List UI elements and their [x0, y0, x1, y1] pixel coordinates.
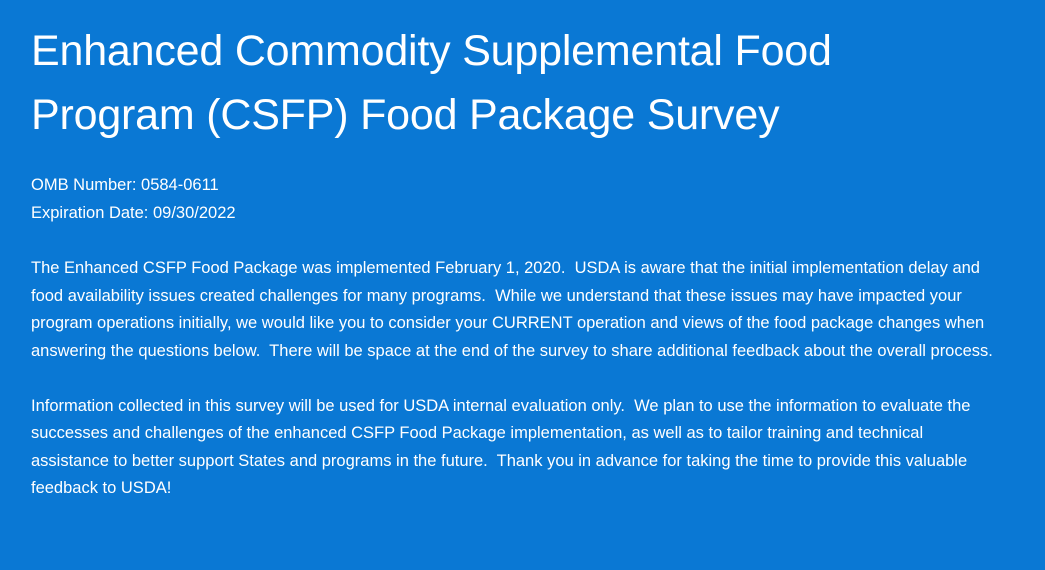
- intro-body-block: The Enhanced CSFP Food Package was imple…: [31, 255, 993, 503]
- expiration-date-text: Expiration Date: 09/30/2022: [31, 200, 631, 228]
- intro-paragraph-implementation: The Enhanced CSFP Food Package was imple…: [31, 255, 993, 365]
- omb-meta-block: OMB Number: 0584-0611 Expiration Date: 0…: [31, 172, 631, 227]
- intro-paragraph-data-use: Information collected in this survey wil…: [31, 393, 993, 503]
- page-title: Enhanced Commodity Supplemental Food Pro…: [31, 19, 971, 147]
- omb-number-text: OMB Number: 0584-0611: [31, 172, 631, 200]
- survey-intro-page: Enhanced Commodity Supplemental Food Pro…: [0, 0, 1045, 570]
